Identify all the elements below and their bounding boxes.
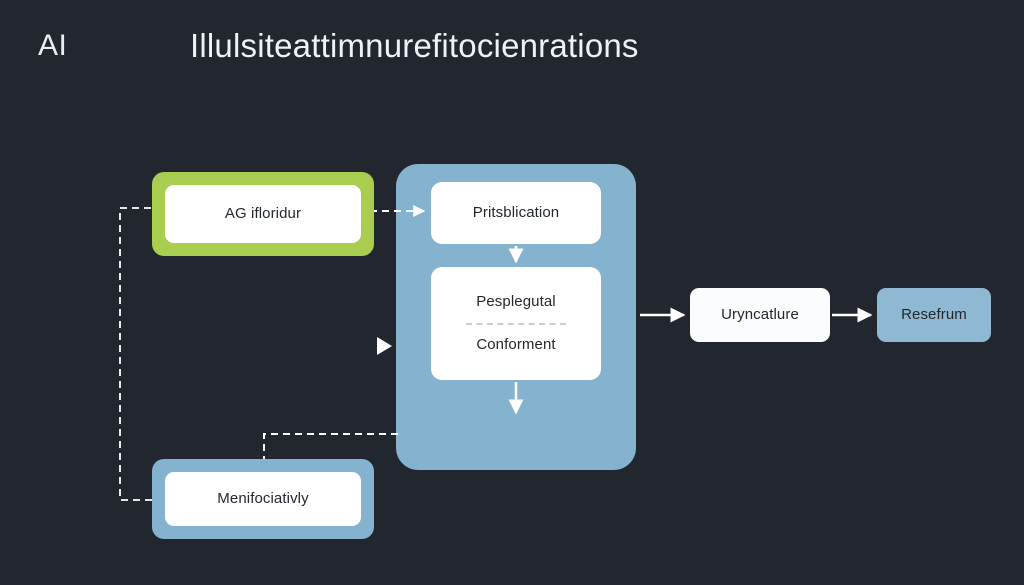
header: AI Illulsiteattimnurefitocienrations bbox=[0, 0, 1024, 110]
node-input[interactable]: AG ifloridur bbox=[152, 172, 374, 256]
node-input-label: AG ifloridur bbox=[225, 205, 301, 224]
node-evaluate-label-primary: Pesplegutal bbox=[476, 293, 556, 312]
diagram-canvas: AI Illulsiteattimnurefitocienrations bbox=[0, 0, 1024, 585]
node-result[interactable]: Resefrum bbox=[877, 288, 991, 342]
node-output-label: Uryncatlure bbox=[721, 306, 799, 325]
node-evaluate-divider bbox=[466, 323, 566, 325]
node-feedback[interactable]: Menifociativly bbox=[152, 459, 374, 539]
node-process[interactable]: Pritsblication bbox=[431, 182, 601, 244]
node-output[interactable]: Uryncatlure bbox=[690, 288, 830, 342]
page-title: Illulsiteattimnurefitocienrations bbox=[190, 28, 639, 64]
connector-panel-left-marker bbox=[377, 337, 392, 355]
node-feedback-inner: Menifociativly bbox=[165, 472, 361, 526]
connector-feedback-to-input bbox=[120, 208, 152, 500]
node-feedback-label: Menifociativly bbox=[217, 490, 308, 509]
node-evaluate-label-secondary: Conforment bbox=[476, 336, 555, 355]
node-evaluate[interactable]: Pesplegutal Conforment bbox=[431, 267, 601, 380]
node-process-label: Pritsblication bbox=[473, 204, 559, 223]
brand-label: AI bbox=[38, 31, 67, 61]
node-input-inner: AG ifloridur bbox=[165, 185, 361, 243]
node-result-label: Resefrum bbox=[901, 306, 967, 325]
